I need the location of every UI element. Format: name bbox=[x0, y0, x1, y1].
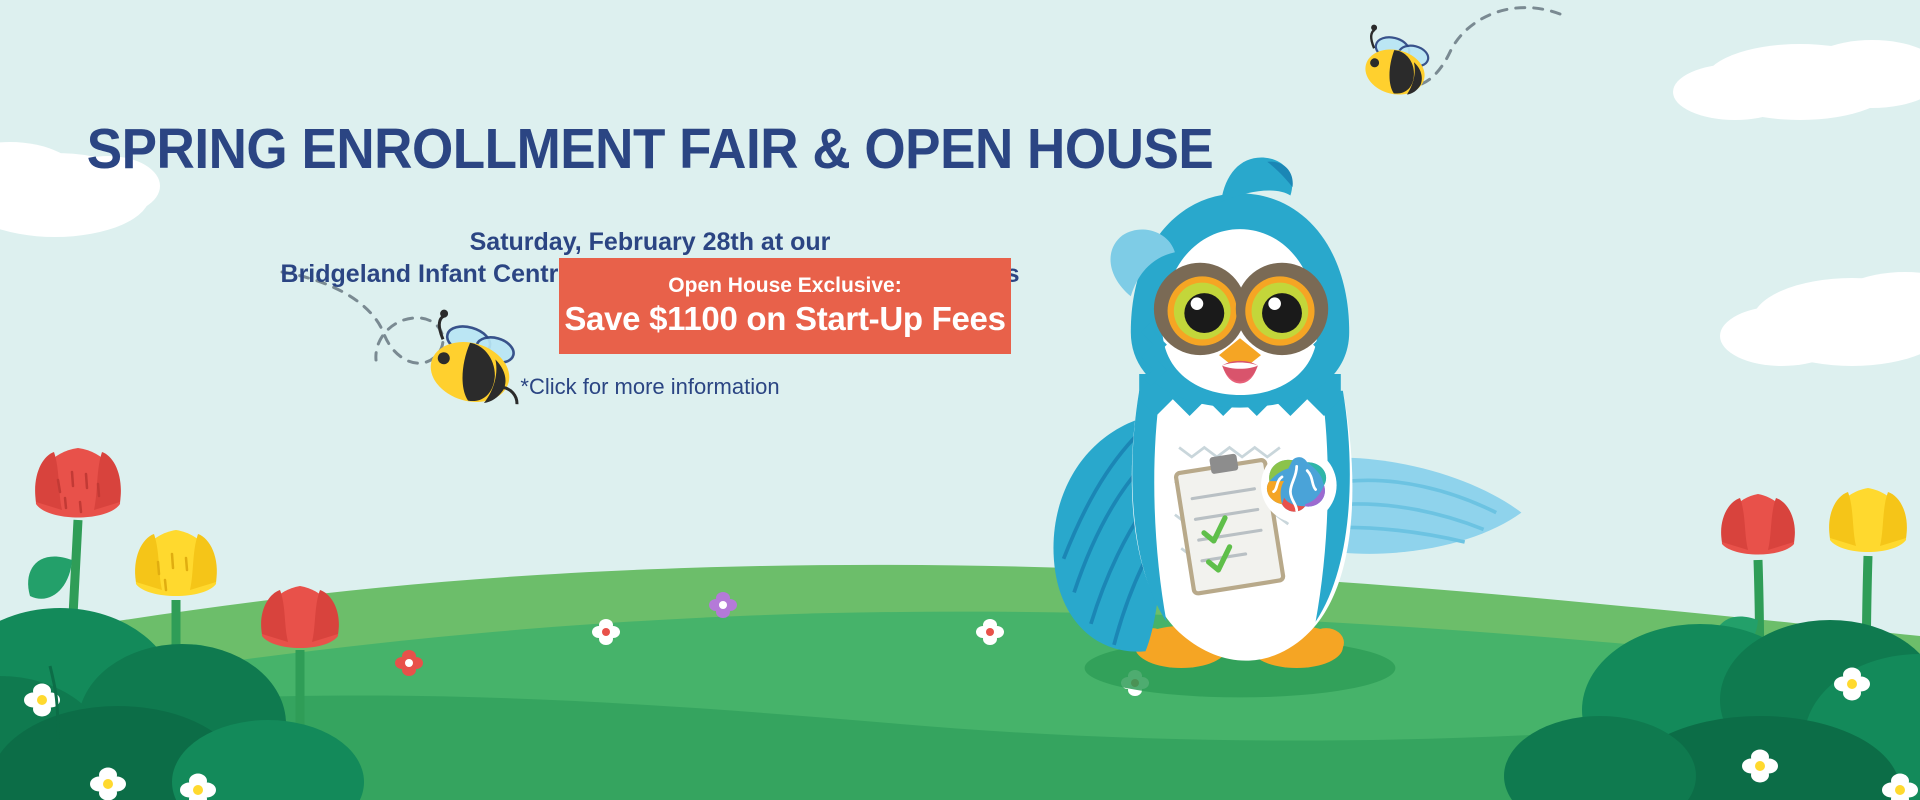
tulip-red-lower-left bbox=[261, 586, 339, 648]
owl-brain-badge bbox=[1261, 448, 1337, 524]
scenery-illustration bbox=[0, 0, 1920, 800]
promotional-banner: SPRING ENROLLMENT FAIR & OPEN HOUSE Satu… bbox=[0, 0, 1920, 800]
promo-headline: Save $1100 on Start-Up Fees bbox=[564, 300, 1005, 338]
promo-eyebrow: Open House Exclusive: bbox=[668, 274, 901, 298]
owl-eye-left bbox=[1154, 263, 1246, 355]
tulip-red-left bbox=[35, 448, 121, 518]
more-information-link[interactable]: *Click for more information bbox=[0, 374, 1300, 400]
owl-eye-right bbox=[1236, 263, 1328, 355]
tulip-red-right bbox=[1721, 494, 1795, 555]
promo-offer-box[interactable]: Open House Exclusive: Save $1100 on Star… bbox=[559, 258, 1011, 354]
tulip-yellow-right bbox=[1829, 488, 1907, 552]
tulip-yellow-left bbox=[135, 530, 217, 596]
